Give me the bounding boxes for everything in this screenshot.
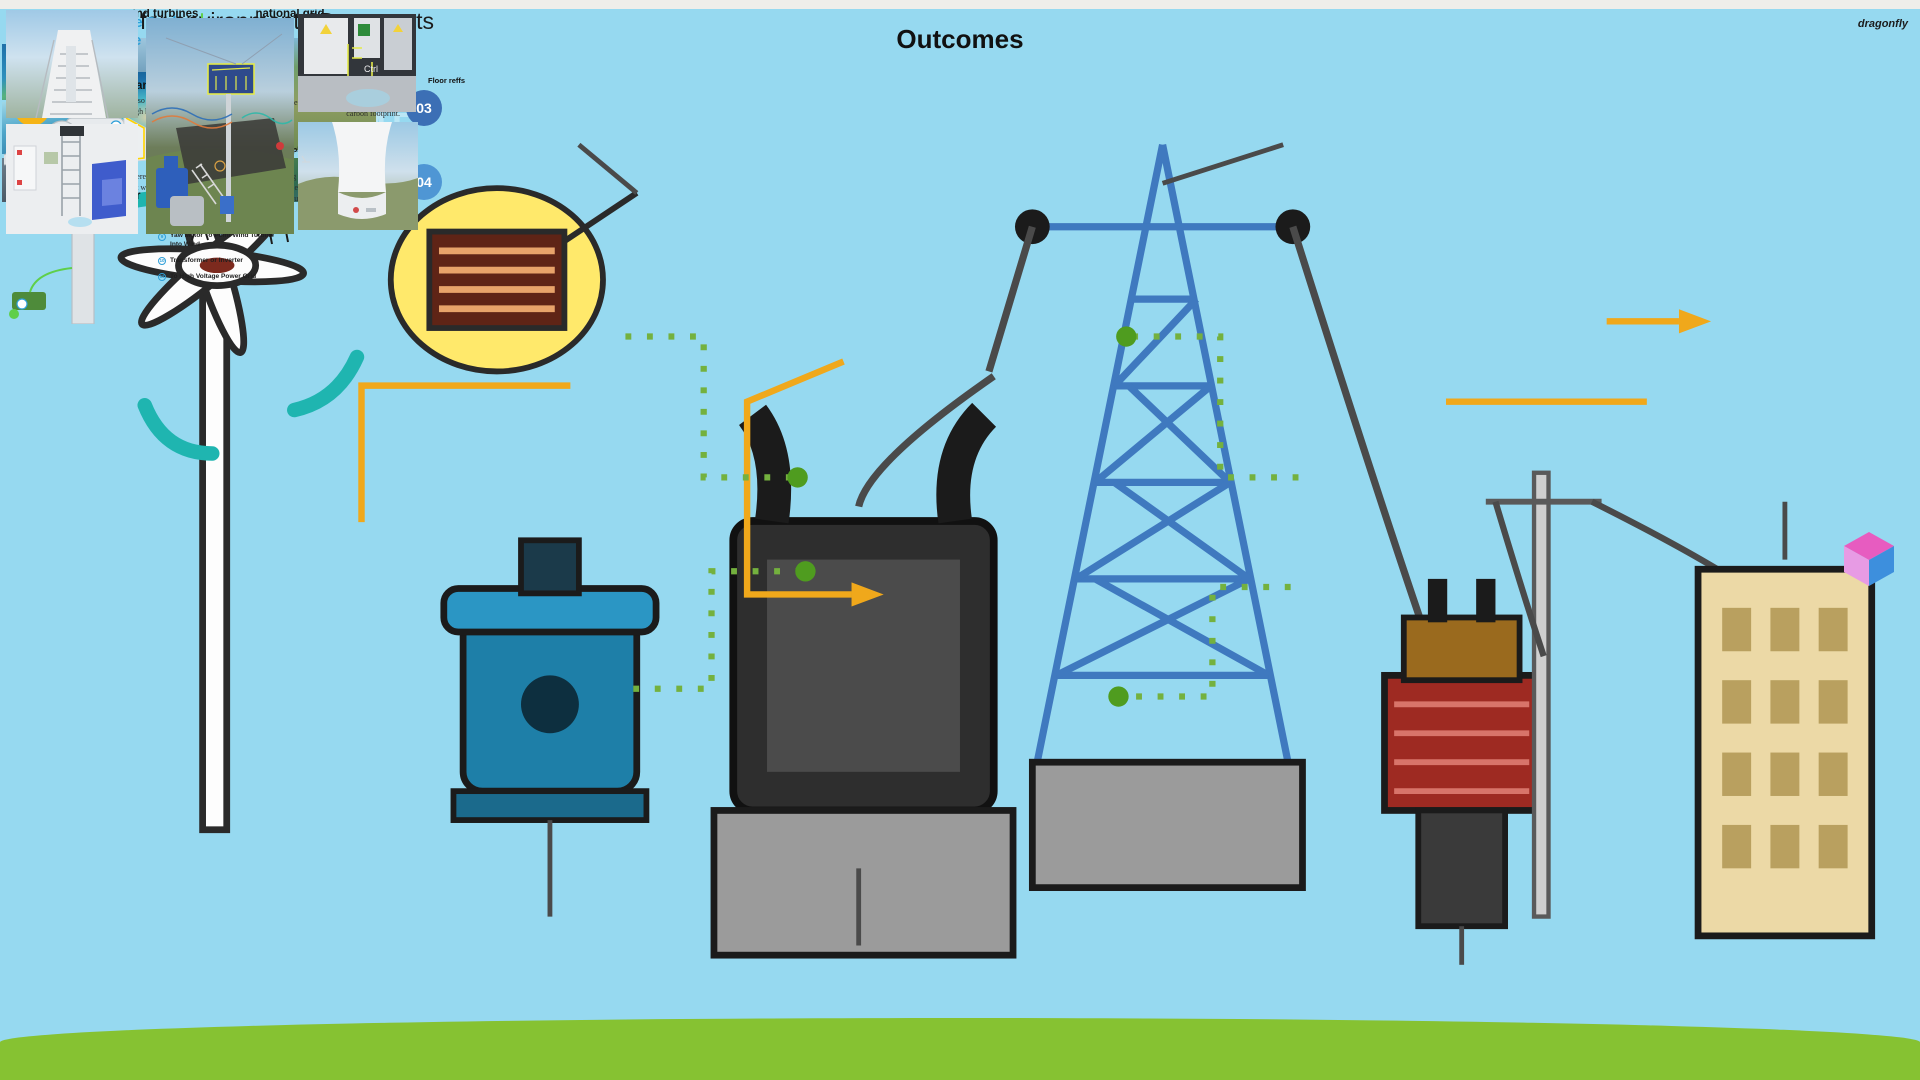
svg-text:Ctrl: Ctrl [364, 64, 378, 74]
vr-screenshot-turbine-base-stairs[interactable] [6, 10, 138, 118]
vr-screenshot-control-cabinet[interactable]: Ctrl [298, 14, 416, 112]
vr-screenshot-nacelle-exterior[interactable] [298, 122, 418, 230]
3d-cube-icon[interactable] [1838, 528, 1900, 590]
vr-screenshot-transformer-annotation[interactable] [146, 18, 294, 234]
caption-floor-reefs: Floor reffs [428, 76, 476, 85]
turbine-part-number: 10 [158, 257, 166, 265]
turbine-part-number: 11 [158, 273, 166, 281]
outcomes-top-bar [0, 0, 1920, 9]
turbine-part-item: 11To High Voltage Power Grid [158, 273, 286, 282]
vr-screenshot-nacelle-interior-ladder[interactable] [6, 124, 138, 234]
turbine-part-label: To High Voltage Power Grid [170, 273, 256, 282]
whiteboard-canvas: Wind turbine ideation Journey Map Name: … [0, 0, 1920, 1080]
